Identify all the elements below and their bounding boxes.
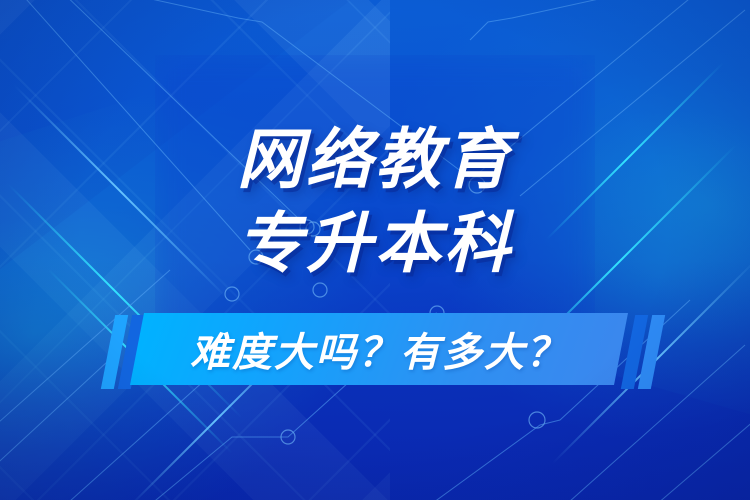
vignette-overlay [0,0,750,500]
promo-banner: 网络教育 专升本科 难度大吗？有多大？ [0,0,750,500]
